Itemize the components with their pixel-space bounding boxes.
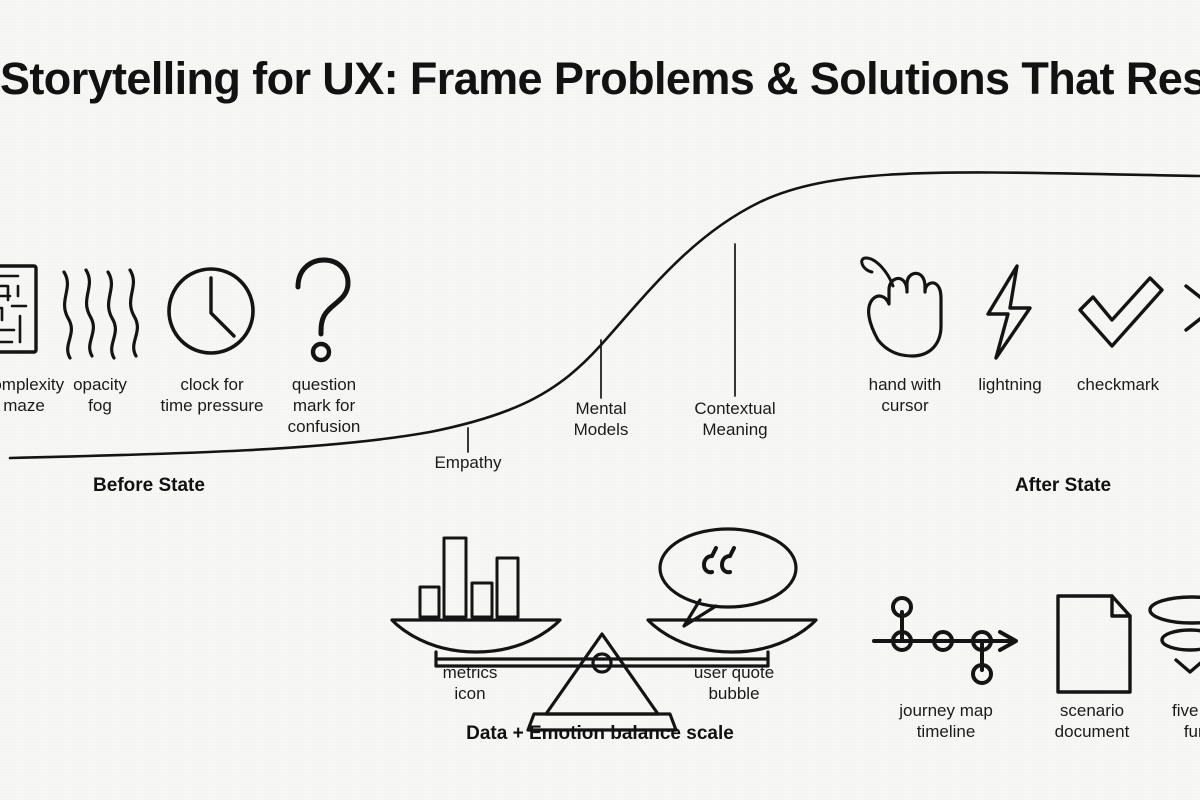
artifact-label-2: five whys funnel — [1152, 700, 1200, 742]
artifacts-layer — [0, 0, 1200, 800]
funnel-icon — [1150, 597, 1200, 672]
artifact-label-0: journey map timeline — [876, 700, 1016, 742]
document-icon — [1058, 596, 1130, 692]
diagram-canvas: Empathy Mental Models Contextual Meaning — [0, 0, 1200, 800]
journey-map-icon — [874, 598, 1016, 683]
artifact-label-1: scenario document — [1030, 700, 1154, 742]
